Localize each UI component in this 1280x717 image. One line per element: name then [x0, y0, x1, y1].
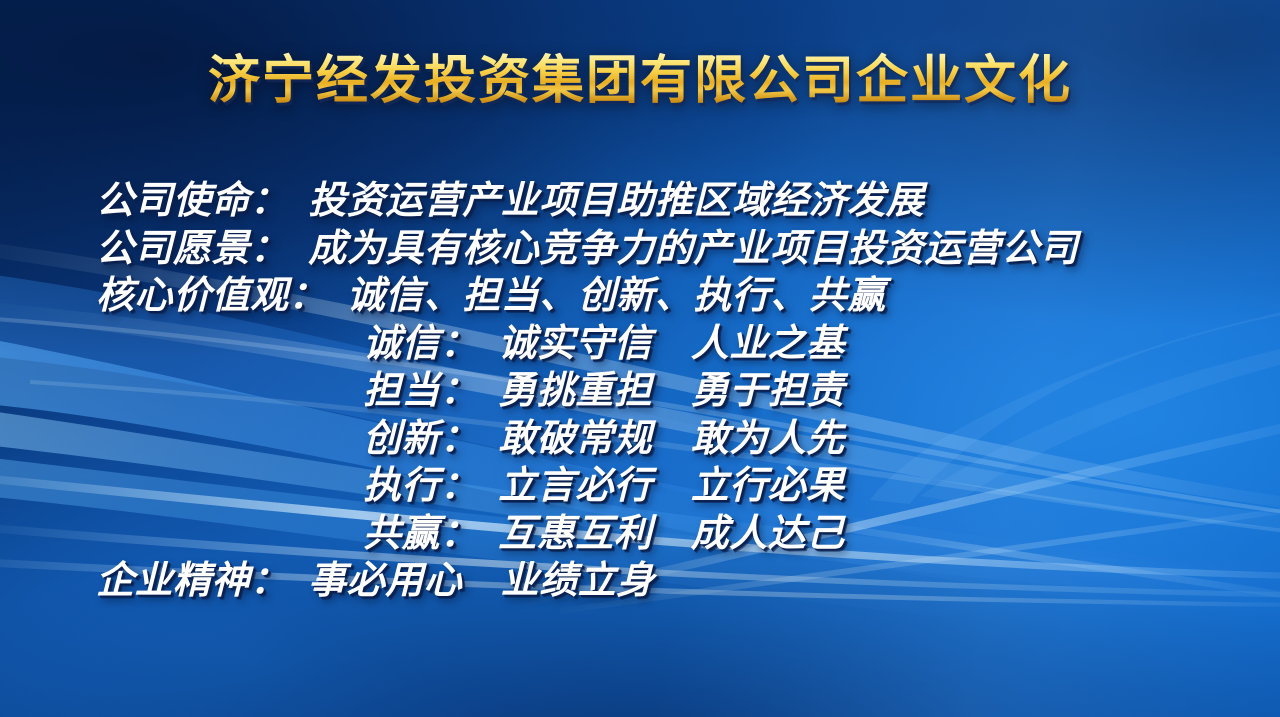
poster-content: 济宁经发投资集团有限公司企业文化 公司使命：投资运营产业项目助推区域经济发展 公… — [0, 0, 1280, 717]
line-win-win: 共赢：互惠互利 成人达己 — [0, 511, 1280, 559]
line-vision-label: 公司愿景： — [96, 228, 289, 270]
line-vision: 公司愿景：成为具有核心竞争力的产业项目投资运营公司 — [0, 226, 1280, 274]
line-core-values-label: 核心价值观： — [96, 275, 327, 317]
line-innovation-value: 敢破常规 敢为人先 — [498, 418, 845, 460]
line-mission-label: 公司使命： — [96, 180, 289, 222]
line-vision-value: 成为具有核心竞争力的产业项目投资运营公司 — [308, 228, 1078, 270]
line-execution-label: 执行： — [363, 465, 479, 507]
page-title: 济宁经发投资集团有限公司企业文化 — [0, 52, 1280, 110]
line-win-win-label: 共赢： — [363, 513, 479, 555]
line-integrity-value: 诚实守信 人业之基 — [498, 323, 845, 365]
line-mission: 公司使命：投资运营产业项目助推区域经济发展 — [0, 178, 1280, 226]
line-mission-value: 投资运营产业项目助推区域经济发展 — [308, 180, 924, 222]
line-execution-value: 立言必行 立行必果 — [498, 465, 845, 507]
line-execution: 执行：立言必行 立行必果 — [0, 463, 1280, 511]
line-enterprise-spirit-label: 企业精神： — [96, 560, 289, 602]
line-innovation-label: 创新： — [363, 418, 479, 460]
line-innovation: 创新：敢破常规 敢为人先 — [0, 416, 1280, 464]
line-integrity-label: 诚信： — [363, 323, 479, 365]
line-core-values-value: 诚信、担当、创新、执行、共赢 — [347, 275, 886, 317]
line-enterprise-spirit-value: 事必用心 业绩立身 — [308, 560, 655, 602]
line-duty-label: 担当： — [363, 370, 479, 412]
culture-poster: 济宁经发投资集团有限公司企业文化 公司使命：投资运营产业项目助推区域经济发展 公… — [0, 0, 1280, 717]
line-integrity: 诚信：诚实守信 人业之基 — [0, 321, 1280, 369]
line-duty-value: 勇挑重担 勇于担责 — [498, 370, 845, 412]
line-core-values: 核心价值观：诚信、担当、创新、执行、共赢 — [0, 273, 1280, 321]
line-enterprise-spirit: 企业精神：事必用心 业绩立身 — [0, 558, 1280, 606]
line-win-win-value: 互惠互利 成人达己 — [498, 513, 845, 555]
line-duty: 担当：勇挑重担 勇于担责 — [0, 368, 1280, 416]
culture-statement-list: 公司使命：投资运营产业项目助推区域经济发展 公司愿景：成为具有核心竞争力的产业项… — [0, 178, 1280, 606]
